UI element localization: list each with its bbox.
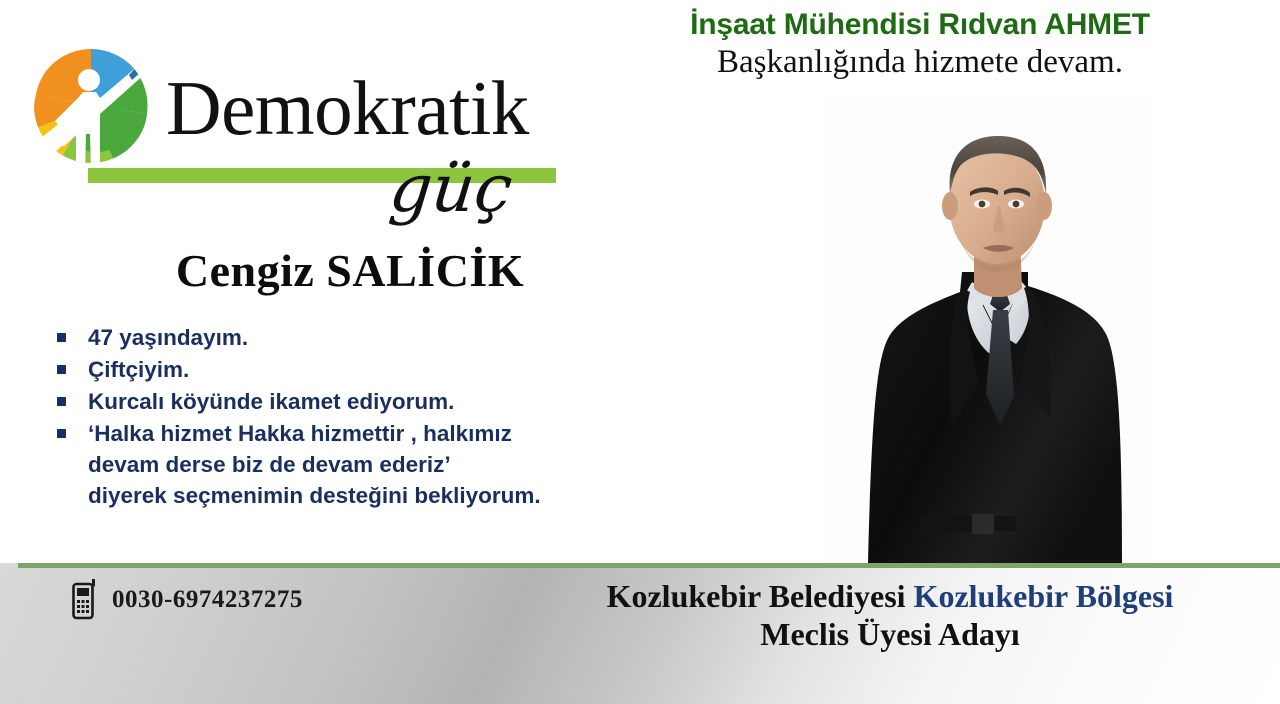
bio-item-text: Kurcalı köyünde ikamet ediyorum. <box>88 386 712 417</box>
party-logo: Demokratik güç <box>20 28 560 213</box>
header-endorsement: İnşaat Mühendisi Rıdvan AHMET Başkanlığı… <box>560 8 1280 82</box>
header-mayor-line: İnşaat Mühendisi Rıdvan AHMET <box>560 8 1280 42</box>
bio-list-item: Kurcalı köyünde ikamet ediyorum. <box>52 386 712 417</box>
campaign-poster: Demokratik güç İnşaat Mühendisi Rıdvan A… <box>0 0 1280 704</box>
demokratik-guc-emblem-icon <box>28 42 158 172</box>
office-title-block: Kozlukebir Belediyesi Kozlukebir Bölgesi… <box>500 578 1280 654</box>
candidate-bio-list: 47 yaşındayım. Çiftçiyim. Kurcalı köyünd… <box>52 322 712 512</box>
bio-list-item: ‘Halka hizmet Hakka hizmettir , halkımız… <box>52 418 712 511</box>
phone-number: 0030-6974237275 <box>112 587 303 612</box>
bio-item-text: 47 yaşındayım. <box>88 322 712 353</box>
office-region: Kozlukebir Bölgesi <box>914 578 1174 614</box>
bio-item-text: Çiftçiyim. <box>88 354 712 385</box>
square-bullet-icon <box>57 333 66 342</box>
square-bullet-icon <box>57 429 66 438</box>
square-bullet-icon <box>57 365 66 374</box>
logo-script-word: güç <box>387 156 516 222</box>
office-municipality: Kozlukebir Belediyesi <box>607 578 914 614</box>
header-slogan-line: Başkanlığında hizmete devam. <box>560 44 1280 82</box>
candidate-name: Cengiz SALİCİK <box>0 248 700 294</box>
candidate-portrait-frame <box>822 96 1152 563</box>
bio-list-item: 47 yaşındayım. <box>52 322 712 353</box>
bio-item-text: ‘Halka hizmet Hakka hizmettir , halkımız… <box>88 418 712 511</box>
mobile-phone-icon <box>72 578 98 620</box>
square-bullet-icon <box>57 397 66 406</box>
contact-block: 0030-6974237275 <box>72 578 303 620</box>
footer-green-divider <box>18 563 1280 568</box>
bio-list-item: Çiftçiyim. <box>52 354 712 385</box>
logo-wordmark: Demokratik <box>166 70 529 147</box>
office-position: Meclis Üyesi Adayı <box>500 616 1280 654</box>
candidate-portrait-photo <box>822 96 1152 563</box>
